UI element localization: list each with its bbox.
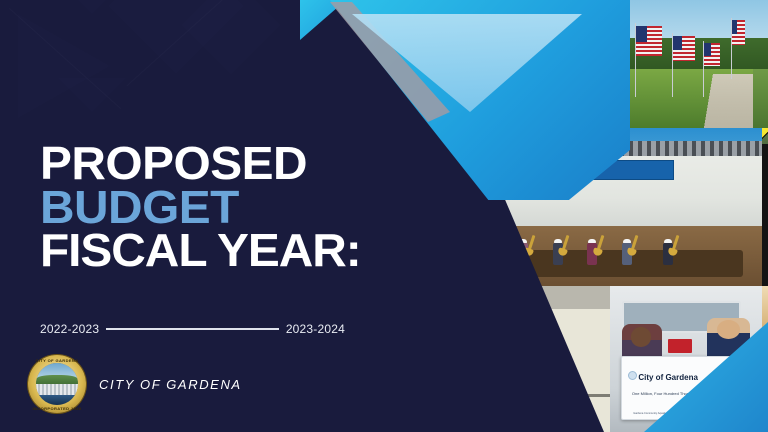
city-branding: CITY OF GARDENA INCORPORATED 1930 CITY O… (28, 355, 242, 413)
flag-icon (731, 18, 744, 79)
photo-jazz-festival-poster: 𝄞 CITY OF GARDENA JAZZ FESTIVAL Save the… (762, 128, 768, 286)
fiscal-year-range: 2022-2023 2023-2024 (40, 322, 345, 336)
check-payee: City of Gardena (638, 373, 698, 382)
year-to: 2023-2024 (286, 322, 345, 336)
title-line-proposed: PROPOSED (40, 142, 383, 186)
seal-ring-bottom-text: INCORPORATED 1930 (28, 406, 86, 411)
seal-ring-top-text: CITY OF GARDENA (28, 358, 86, 363)
budget-cover-poster: PRIMM (0, 0, 768, 432)
title-block: PROPOSED BUDGET FISCAL YEAR: (40, 142, 370, 273)
flag-icon (635, 23, 661, 97)
year-from: 2022-2023 (40, 322, 99, 336)
flower-median (753, 69, 768, 128)
flag-icon (703, 41, 719, 97)
decorative-quad (182, 0, 281, 74)
red-sign (668, 339, 692, 354)
city-name-label: CITY OF GARDENA (99, 377, 242, 392)
flag-icon (672, 33, 694, 97)
photo-avenue-of-flags (610, 0, 768, 128)
poster-body (762, 144, 768, 286)
year-connector-line (106, 328, 279, 330)
seal-interior (36, 363, 78, 405)
city-seal-icon: CITY OF GARDENA INCORPORATED 1930 (28, 355, 86, 413)
title-line-budget: BUDGET (40, 186, 383, 230)
title-line-fiscal-year: FISCAL YEAR: (40, 229, 383, 273)
check-seal-icon (628, 371, 637, 380)
